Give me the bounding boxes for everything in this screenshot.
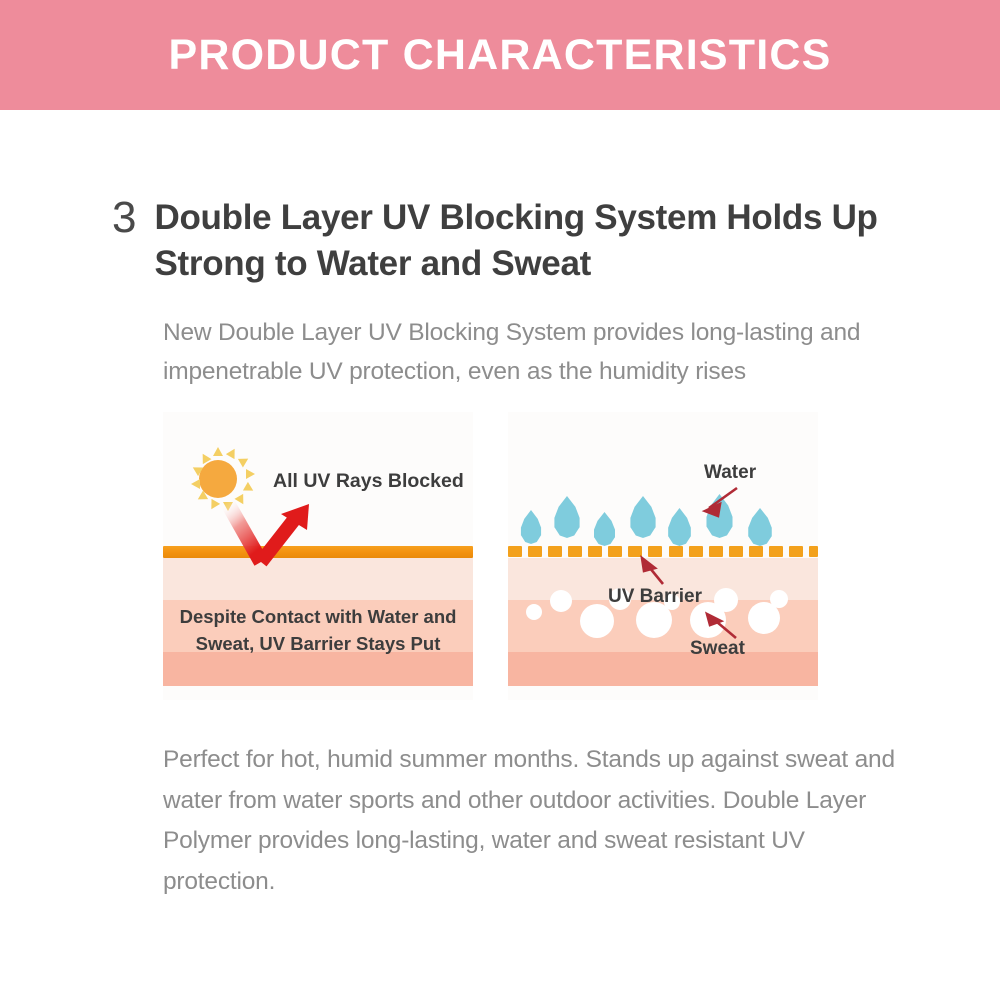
section-number: 3 — [112, 195, 136, 241]
label-all-uv-rays-blocked: All UV Rays Blocked — [273, 470, 464, 493]
uv-bounce-arrow-icon — [221, 500, 331, 570]
section-subtitle: New Double Layer UV Blocking System prov… — [163, 313, 883, 391]
uv-rays-blocked-diagram: All UV Rays Blocked Despite Contact with… — [163, 412, 473, 700]
figure-area: All UV Rays Blocked Despite Contact with… — [0, 412, 1000, 700]
label-barrier-stays-put: Despite Contact with Water and Sweat, UV… — [163, 604, 473, 658]
water-sweat-resistance-diagram: Water UV Barrier Sweat — [508, 412, 818, 700]
section-heading-row: 3 Double Layer UV Blocking System Holds … — [112, 195, 912, 287]
sun-ray-icon — [207, 499, 220, 512]
annotation-arrows — [508, 412, 818, 700]
sun-ray-icon — [246, 469, 255, 479]
page-title: PRODUCT CHARACTERISTICS — [168, 31, 831, 80]
sun-ray-icon — [191, 479, 200, 489]
sun-ray-icon — [243, 482, 256, 495]
sun-ray-icon — [226, 446, 239, 459]
header-banner: PRODUCT CHARACTERISTICS — [0, 0, 1000, 110]
section-heading: Double Layer UV Blocking System Holds Up… — [154, 195, 894, 287]
sun-ray-icon — [213, 447, 223, 456]
sun-ray-icon — [238, 454, 251, 467]
body-paragraph: Perfect for hot, humid summer months. St… — [163, 740, 903, 903]
